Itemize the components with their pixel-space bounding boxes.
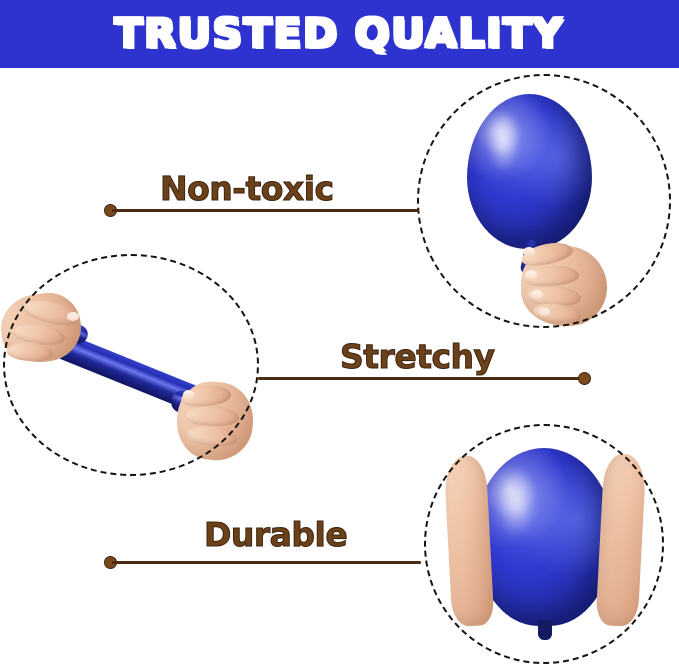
photo-hands-stretching	[0, 252, 265, 477]
callout-line-stretchy	[258, 377, 586, 380]
photo-hand-holding	[415, 72, 675, 330]
photo-hands-pressing	[412, 422, 672, 665]
product-feature-infographic: TRUSTED QUALITY Non-toxic	[0, 0, 679, 665]
header-banner: TRUSTED QUALITY	[0, 0, 679, 68]
dashed-circle-outline	[3, 254, 259, 476]
feature-label-stretchy: Stretchy	[340, 340, 495, 373]
callout-dot-stretchy	[578, 372, 591, 385]
callout-line-durable	[112, 561, 421, 564]
page-title: TRUSTED QUALITY	[115, 14, 565, 54]
dashed-circle-outline	[424, 424, 664, 664]
callout-line-non-toxic	[112, 209, 419, 212]
dashed-circle-outline	[417, 74, 671, 328]
feature-label-non-toxic: Non-toxic	[160, 172, 334, 205]
feature-label-durable: Durable	[204, 518, 347, 551]
